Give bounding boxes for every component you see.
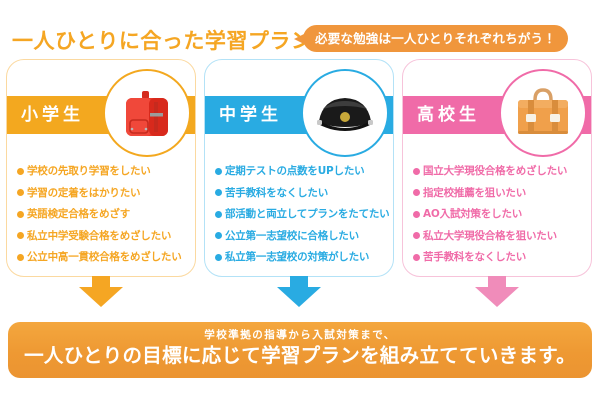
card-junior-high[interactable]: 中学生 定期テストの点数をUPしたい 苦手教科をなくしたい 部活動と両立してプラ… bbox=[204, 59, 394, 277]
list-item-label: 学校の先取り学習をしたい bbox=[27, 164, 151, 178]
arrow-down-junior-high bbox=[277, 287, 321, 307]
list-item: 私立大学現役合格を狙いたい bbox=[413, 229, 581, 243]
list-item-label: 定期テストの点数をUPしたい bbox=[225, 164, 364, 178]
list-item-label: 公立中高一貫校合格をめざしたい bbox=[27, 250, 182, 264]
list-item-label: 学習の定着をはかりたい bbox=[27, 186, 140, 200]
card-elementary[interactable]: 小学生 学校の先取り学習をしたい 学習の定着をはかりたい 英語検定合格をめざ bbox=[6, 59, 196, 277]
card-title-high-school: 高校生 bbox=[417, 96, 480, 134]
bullet-dot-icon bbox=[17, 232, 24, 239]
list-item: AO入試対策をしたい bbox=[413, 207, 581, 221]
bullet-dot-icon bbox=[215, 168, 222, 175]
list-item: 英語検定合格をめざす bbox=[17, 207, 185, 221]
icon-circle-high-school bbox=[499, 69, 587, 157]
list-item-label: 公立第一志望校に合格したい bbox=[225, 229, 359, 243]
list-item: 学校の先取り学習をしたい bbox=[17, 164, 185, 178]
list-item-label: 部活動と両立してプランをたてたい bbox=[225, 207, 389, 221]
summary-banner-subtitle: 学校準拠の指導から入試対策まで、 bbox=[8, 322, 592, 341]
list-item: 部活動と両立してプランをたてたい bbox=[215, 207, 383, 221]
list-item-label: 国立大学現役合格をめざしたい bbox=[423, 164, 567, 178]
card-high-school[interactable]: 高校生 国立大学現役合格をめざしたい 指定校推薦を狙いたい AO入試対策をしたい bbox=[402, 59, 592, 277]
bullet-dot-icon bbox=[413, 232, 420, 239]
bullet-dot-icon bbox=[17, 168, 24, 175]
bullet-dot-icon bbox=[17, 189, 24, 196]
list-item: 公立第一志望校に合格したい bbox=[215, 229, 383, 243]
red-school-backpack-icon bbox=[116, 82, 178, 144]
brown-briefcase-icon bbox=[511, 84, 575, 142]
list-item-label: 私立大学現役合格を狙いたい bbox=[423, 229, 557, 243]
summary-banner-title: 一人ひとりの目標に応じて学習プランを組み立てていきます。 bbox=[8, 341, 592, 371]
list-item-label: AO入試対策をしたい bbox=[423, 207, 522, 221]
list-item-label: 指定校推薦を狙いたい bbox=[423, 186, 526, 200]
page-title: 一人ひとりに合った学習プラン bbox=[12, 21, 312, 61]
bullet-dot-icon bbox=[215, 189, 222, 196]
bullet-dot-icon bbox=[413, 211, 420, 218]
list-item-label: 苦手教科をなくしたい bbox=[423, 250, 526, 264]
list-item-label: 私立中学受験合格をめざしたい bbox=[27, 229, 171, 243]
list-item-label: 英語検定合格をめざす bbox=[27, 207, 130, 221]
list-item: 私立中学受験合格をめざしたい bbox=[17, 229, 185, 243]
list-item: 苦手教科をなくしたい bbox=[215, 186, 383, 200]
bullet-dot-icon bbox=[215, 254, 222, 261]
card-title-junior-high: 中学生 bbox=[219, 96, 282, 134]
icon-circle-elementary bbox=[103, 69, 191, 157]
card-title-elementary: 小学生 bbox=[21, 96, 84, 134]
black-school-cap-icon bbox=[313, 87, 377, 139]
arrow-down-high-school bbox=[475, 287, 519, 307]
card-bullet-list-elementary: 学校の先取り学習をしたい 学習の定着をはかりたい 英語検定合格をめざす 私立中学… bbox=[7, 164, 195, 272]
list-item-label: 苦手教科をなくしたい bbox=[225, 186, 328, 200]
icon-circle-junior-high bbox=[301, 69, 389, 157]
bullet-dot-icon bbox=[215, 211, 222, 218]
card-bullet-list-junior-high: 定期テストの点数をUPしたい 苦手教科をなくしたい 部活動と両立してプランをたて… bbox=[205, 164, 393, 272]
bullet-dot-icon bbox=[17, 254, 24, 261]
bullet-dot-icon bbox=[413, 254, 420, 261]
bullet-dot-icon bbox=[413, 189, 420, 196]
card-row: 小学生 学校の先取り学習をしたい 学習の定着をはかりたい 英語検定合格をめざ bbox=[0, 59, 600, 279]
list-item: 指定校推薦を狙いたい bbox=[413, 186, 581, 200]
list-item-label: 私立第一志望校の対策がしたい bbox=[225, 250, 369, 264]
bullet-dot-icon bbox=[17, 211, 24, 218]
card-bullet-list-high-school: 国立大学現役合格をめざしたい 指定校推薦を狙いたい AO入試対策をしたい 私立大… bbox=[403, 164, 591, 272]
bullet-dot-icon bbox=[215, 232, 222, 239]
infographic-root: 一人ひとりに合った学習プラン 必要な勉強は一人ひとりそれぞれちがう！ 小学生 bbox=[0, 0, 600, 400]
list-item: 学習の定着をはかりたい bbox=[17, 186, 185, 200]
list-item: 私立第一志望校の対策がしたい bbox=[215, 250, 383, 264]
summary-banner: 学校準拠の指導から入試対策まで、 一人ひとりの目標に応じて学習プランを組み立てて… bbox=[8, 322, 592, 378]
arrow-down-elementary bbox=[79, 287, 123, 307]
speech-bubble: 必要な勉強は一人ひとりそれぞれちがう！ bbox=[303, 25, 568, 52]
bullet-dot-icon bbox=[413, 168, 420, 175]
list-item: 苦手教科をなくしたい bbox=[413, 250, 581, 264]
list-item: 定期テストの点数をUPしたい bbox=[215, 164, 383, 178]
list-item: 国立大学現役合格をめざしたい bbox=[413, 164, 581, 178]
header: 一人ひとりに合った学習プラン 必要な勉強は一人ひとりそれぞれちがう！ bbox=[0, 22, 600, 62]
list-item: 公立中高一貫校合格をめざしたい bbox=[17, 250, 185, 264]
